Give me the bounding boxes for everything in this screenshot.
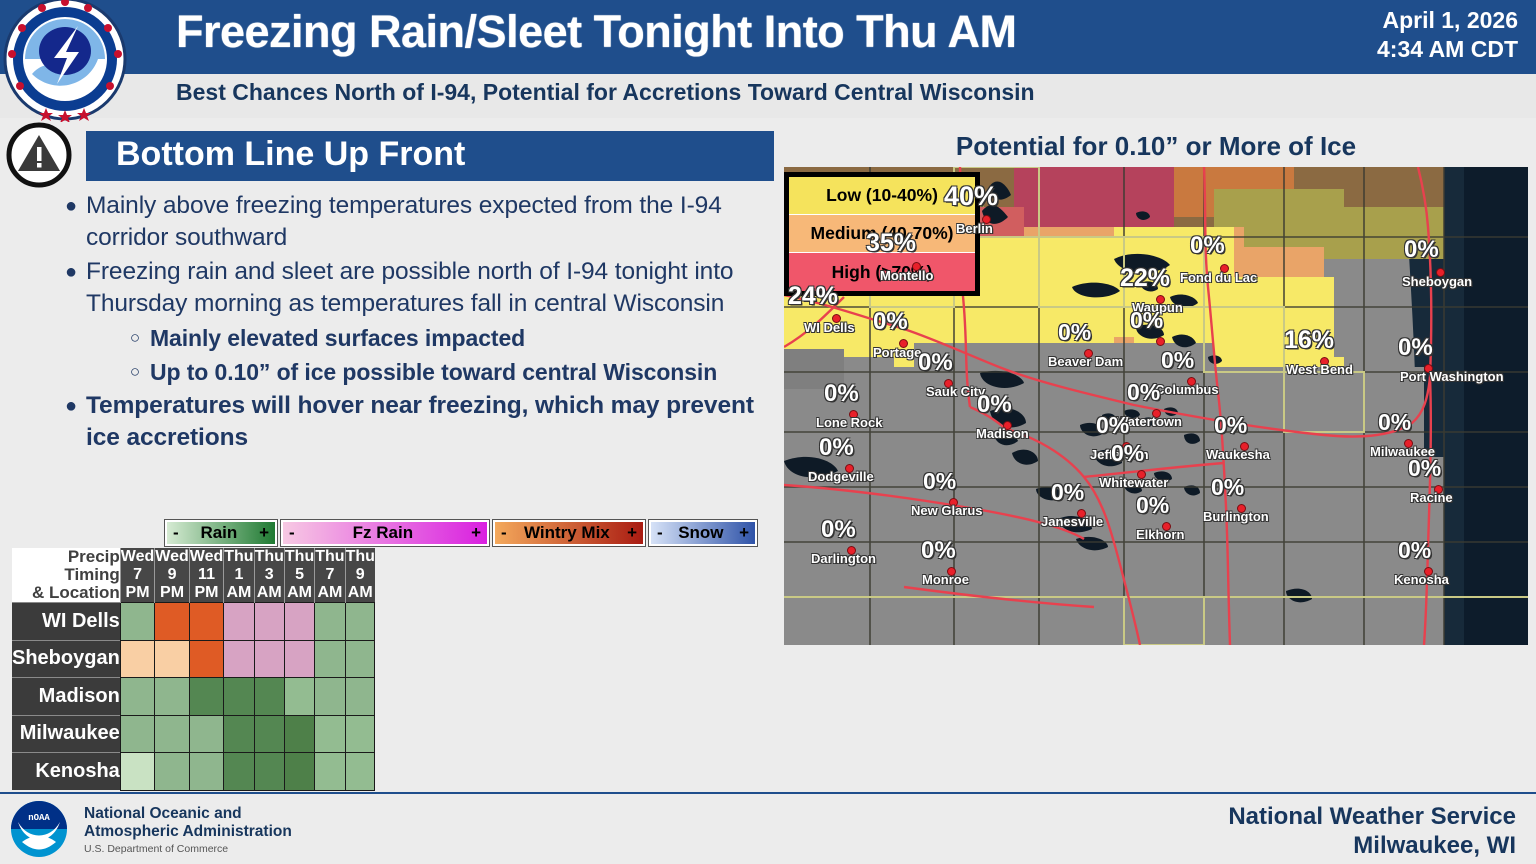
legend-label: Wintry Mix xyxy=(507,523,627,543)
table-row: Kenosha xyxy=(12,753,375,791)
city-name-label: Berlin xyxy=(956,221,993,236)
city-name-label: Darlington xyxy=(811,551,876,566)
column-hour: 9 PM xyxy=(155,566,188,602)
legend-label: Snow xyxy=(663,523,739,543)
column-header: Thu 3 AM xyxy=(254,548,284,603)
timing-cell xyxy=(224,678,254,716)
timing-cell xyxy=(120,678,154,716)
city-probability-value: 0% xyxy=(1096,412,1129,439)
noaa-department: U.S. Department of Commerce xyxy=(84,843,228,855)
briefing-slide: Freezing Rain/Sleet Tonight Into Thu AM … xyxy=(0,0,1536,864)
noaa-logo: nOAA xyxy=(8,800,70,858)
city-name-label: Waukesha xyxy=(1206,447,1270,462)
row-location-label: WI Dells xyxy=(12,603,120,641)
issue-timestamp: April 1, 2026 4:34 AM CDT xyxy=(1288,6,1518,64)
row-location-label: Madison xyxy=(12,678,120,716)
timing-cell xyxy=(155,640,189,678)
timing-cell xyxy=(254,753,284,791)
column-header: Wed 7 PM xyxy=(120,548,154,603)
legend-plus: + xyxy=(627,523,637,543)
timing-cell xyxy=(315,715,345,753)
timing-cell xyxy=(120,715,154,753)
column-header: Thu 1 AM xyxy=(224,548,254,603)
city-probability-value: 0% xyxy=(1408,455,1441,482)
city-probability-value: 0% xyxy=(1398,334,1433,362)
column-day: Wed xyxy=(190,548,223,566)
city-probability-value: 0% xyxy=(821,516,856,544)
column-day: Wed xyxy=(121,548,154,566)
timing-cell xyxy=(189,753,223,791)
svg-text:nOAA: nOAA xyxy=(28,813,50,823)
list-item: ○ Mainly elevated surfaces impacted xyxy=(120,322,774,354)
city-probability-value: 0% xyxy=(1378,409,1411,436)
city-probability-value: 0% xyxy=(1214,412,1247,439)
timing-cell xyxy=(315,603,345,641)
city-probability-value: 0% xyxy=(824,380,859,408)
nws-roundel-logo xyxy=(2,0,128,122)
list-item: ● Mainly above freezing temperatures exp… xyxy=(56,190,774,254)
column-day: Thu xyxy=(315,548,344,566)
city-name-label: Fond du Lac xyxy=(1180,270,1257,285)
timing-cell xyxy=(224,753,254,791)
timing-grid-body: WI DellsSheboyganMadisonMilwaukeeKenosha xyxy=(12,603,375,791)
column-hour: 11 PM xyxy=(190,566,223,602)
timing-cell xyxy=(155,603,189,641)
map-title: Potential for 0.10” or More of Ice xyxy=(784,131,1528,162)
city-probability-value: 0% xyxy=(918,349,953,377)
city-probability-value: 0% xyxy=(1130,307,1163,334)
city-name-label: West Bend xyxy=(1286,362,1353,377)
timing-cell xyxy=(254,678,284,716)
city-probability-value: 0% xyxy=(1161,347,1194,374)
timing-cell xyxy=(284,640,314,678)
bullet-marker: ○ xyxy=(120,356,150,388)
column-header: Thu 7 AM xyxy=(315,548,345,603)
city-probability-value: 0% xyxy=(1058,319,1091,346)
city-name-label: Burlington xyxy=(1203,509,1269,524)
city-probability-value: 0% xyxy=(977,391,1012,419)
legend-chip-rain: - Rain + xyxy=(165,520,277,546)
timing-cell xyxy=(155,715,189,753)
issue-time: 4:34 AM CDT xyxy=(1288,35,1518,64)
corner-line-1: Precip Timing xyxy=(12,548,120,584)
timing-cell xyxy=(189,603,223,641)
timing-cell xyxy=(254,715,284,753)
noaa-line-2: Atmospheric Administration xyxy=(84,823,292,841)
list-item: ● Freezing rain and sleet are possible n… xyxy=(56,256,774,320)
city-name-label: Portage xyxy=(873,345,921,360)
timing-cell xyxy=(345,715,375,753)
bullet-text: Freezing rain and sleet are possible nor… xyxy=(86,256,774,320)
timing-cell xyxy=(284,678,314,716)
office-line-1: National Weather Service xyxy=(1228,802,1516,831)
legend-plus: + xyxy=(471,523,481,543)
timing-cell xyxy=(189,678,223,716)
row-location-label: Kenosha xyxy=(12,753,120,791)
city-probability-value: 24% xyxy=(788,282,838,311)
issue-date: April 1, 2026 xyxy=(1288,6,1518,35)
timing-cell xyxy=(284,603,314,641)
legend-chip-wintry-mix: - Wintry Mix + xyxy=(493,520,645,546)
timing-cell xyxy=(254,640,284,678)
city-name-label: Monroe xyxy=(922,572,969,587)
city-name-label: Janesville xyxy=(1041,514,1103,529)
bullet-marker: ○ xyxy=(120,322,150,354)
city-name-label: Beaver Dam xyxy=(1048,354,1123,369)
legend-label-low: Low (10-40%) xyxy=(826,185,938,206)
header-subtitle: Best Chances North of I-94, Potential fo… xyxy=(176,79,1356,106)
page-title: Freezing Rain/Sleet Tonight Into Thu AM xyxy=(176,6,1286,58)
column-header: Wed 9 PM xyxy=(155,548,189,603)
city-name-label: Lone Rock xyxy=(816,415,882,430)
corner-line-2: & Location xyxy=(12,584,120,602)
table-row: Madison xyxy=(12,678,375,716)
bullet-marker: ● xyxy=(56,256,86,320)
legend-plus: + xyxy=(739,523,749,543)
timing-cell xyxy=(224,640,254,678)
legend-chip-snow: - Snow + xyxy=(649,520,757,546)
precip-type-legend: - Rain + - Fz Rain + - Wintry Mix + - Sn… xyxy=(165,520,757,546)
noaa-agency-name: National Oceanic and Atmospheric Adminis… xyxy=(84,805,292,841)
city-name-label: Madison xyxy=(976,426,1029,441)
city-name-label: Kenosha xyxy=(1394,572,1449,587)
table-row: WI Dells xyxy=(12,603,375,641)
timing-cell xyxy=(120,640,154,678)
table-header-row: Precip Timing & Location Wed 7 PM Wed 9 … xyxy=(12,548,375,603)
city-name-label: Racine xyxy=(1410,490,1453,505)
column-header: Thu 5 AM xyxy=(284,548,314,603)
table-corner-label: Precip Timing & Location xyxy=(12,548,120,603)
bullet-marker: ● xyxy=(56,390,86,454)
timing-cell xyxy=(120,753,154,791)
timing-cell xyxy=(224,715,254,753)
timing-cell xyxy=(345,640,375,678)
office-line-2: Milwaukee, WI xyxy=(1228,831,1516,860)
bluf-bullet-list: ● Mainly above freezing temperatures exp… xyxy=(56,190,774,456)
legend-label: Fz Rain xyxy=(295,523,471,543)
timing-cell xyxy=(315,640,345,678)
bullet-text: Mainly above freezing temperatures expec… xyxy=(86,190,774,254)
city-name-label: Sheboygan xyxy=(1402,274,1472,289)
legend-plus: + xyxy=(259,523,269,543)
bullet-text: Temperatures will hover near freezing, w… xyxy=(86,390,774,454)
timing-cell xyxy=(155,678,189,716)
city-name-label: WI Dells xyxy=(804,320,855,335)
column-hour: 9 AM xyxy=(346,566,375,602)
table-row: Sheboygan xyxy=(12,640,375,678)
city-probability-value: 0% xyxy=(1051,479,1084,506)
city-name-label: Elkhorn xyxy=(1136,527,1184,542)
timing-cell xyxy=(224,603,254,641)
column-day: Wed xyxy=(155,548,188,566)
column-hour: 1 AM xyxy=(224,566,253,602)
city-probability-value: 0% xyxy=(923,468,956,495)
timing-cell xyxy=(345,603,375,641)
timing-cell xyxy=(284,715,314,753)
timing-cell xyxy=(284,753,314,791)
city-probability-value: 0% xyxy=(1111,440,1144,467)
row-location-label: Milwaukee xyxy=(12,715,120,753)
timing-cell xyxy=(345,678,375,716)
list-item: ● Temperatures will hover near freezing,… xyxy=(56,390,774,454)
timing-cell xyxy=(315,678,345,716)
city-probability-value: 0% xyxy=(1127,379,1160,406)
city-probability-value: 35% xyxy=(866,229,916,258)
city-probability-value: 16% xyxy=(1284,326,1334,355)
column-hour: 7 AM xyxy=(315,566,344,602)
timing-cell xyxy=(254,603,284,641)
column-hour: 7 PM xyxy=(121,566,154,602)
warning-triangle-icon xyxy=(6,122,72,188)
footer-divider xyxy=(0,792,1536,794)
city-probability-value: 0% xyxy=(873,308,908,336)
column-hour: 5 AM xyxy=(285,566,314,602)
column-day: Thu xyxy=(224,548,253,566)
column-day: Thu xyxy=(255,548,284,566)
column-day: Thu xyxy=(346,548,375,566)
legend-chip-fz-rain: - Fz Rain + xyxy=(281,520,489,546)
city-probability-value: 40% xyxy=(944,181,998,212)
city-probability-value: 0% xyxy=(819,434,854,462)
list-item: ○ Up to 0.10” of ice possible toward cen… xyxy=(120,356,774,388)
timing-cell xyxy=(315,753,345,791)
office-identifier: National Weather Service Milwaukee, WI xyxy=(1228,802,1516,860)
column-hour: 3 AM xyxy=(255,566,284,602)
city-name-label: Port Washington xyxy=(1400,369,1504,384)
city-probability-value: 0% xyxy=(1404,236,1439,264)
bullet-text: Up to 0.10” of ice possible toward centr… xyxy=(150,356,717,388)
city-probability-value: 0% xyxy=(1398,537,1431,564)
bullet-text: Mainly elevated surfaces impacted xyxy=(150,322,525,354)
timing-cell xyxy=(189,640,223,678)
timing-grid: Precip Timing & Location Wed 7 PM Wed 9 … xyxy=(12,548,375,791)
timing-cell xyxy=(120,603,154,641)
city-probability-value: 0% xyxy=(921,537,956,565)
ice-probability-map[interactable]: Low (10-40%) Medium (40-70%) High (>70%)… xyxy=(784,167,1528,645)
city-name-label: New Glarus xyxy=(911,503,983,518)
city-name-label: Montello xyxy=(880,268,933,283)
city-name-label: Whitewater xyxy=(1099,475,1168,490)
bullet-marker: ● xyxy=(56,190,86,254)
column-day: Thu xyxy=(285,548,314,566)
column-header: Wed 11 PM xyxy=(189,548,223,603)
city-probability-value: 0% xyxy=(1136,492,1169,519)
timing-cell xyxy=(345,753,375,791)
table-row: Milwaukee xyxy=(12,715,375,753)
city-probability-value: 0% xyxy=(1190,232,1225,260)
city-name-label: Columbus xyxy=(1155,382,1219,397)
city-probability-value: 0% xyxy=(1211,474,1244,501)
city-probability-value: 22% xyxy=(1120,264,1170,293)
legend-label: Rain xyxy=(179,523,259,543)
city-dot-icon xyxy=(1156,337,1165,346)
row-location-label: Sheboygan xyxy=(12,640,120,678)
bluf-heading: Bottom Line Up Front xyxy=(116,135,465,174)
timing-cell xyxy=(155,753,189,791)
column-header: Thu 9 AM xyxy=(345,548,375,603)
noaa-line-1: National Oceanic and xyxy=(84,805,292,823)
city-name-label: Dodgeville xyxy=(808,469,874,484)
timing-cell xyxy=(189,715,223,753)
